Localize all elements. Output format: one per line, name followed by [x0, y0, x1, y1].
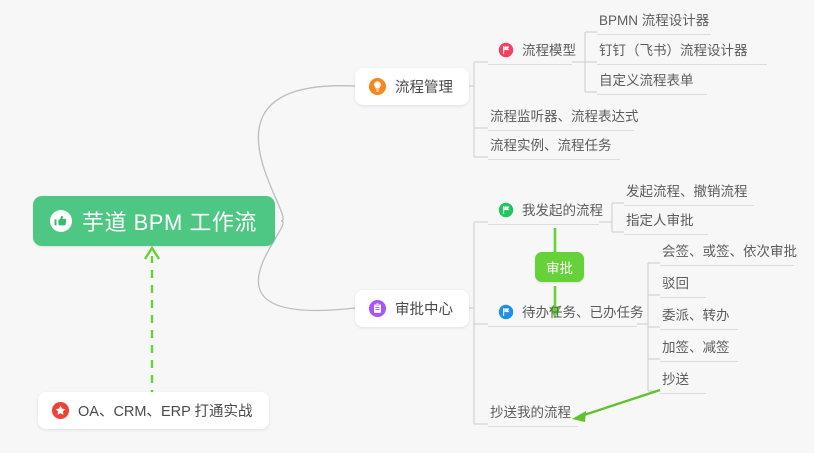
- node-cc[interactable]: 抄送: [660, 364, 706, 394]
- callout-integration[interactable]: OA、CRM、ERP 打通实战: [38, 392, 269, 429]
- node-my-initiated-label: 我发起的流程: [522, 204, 603, 223]
- node-assignee-approval[interactable]: 指定人审批: [624, 205, 708, 235]
- node-delegate-transfer[interactable]: 委派、转办: [660, 300, 738, 330]
- node-start-cancel[interactable]: 发起流程、撤销流程: [624, 176, 754, 206]
- node-countersign-label: 会签、或签、依次审批: [662, 245, 797, 264]
- node-cc-to-me[interactable]: 抄送我的流程: [488, 397, 578, 427]
- node-add-remove-sign[interactable]: 加签、减签: [660, 332, 738, 362]
- root-label: 芋道 BPM 工作流: [82, 205, 257, 237]
- node-add-remove-sign-label: 加签、减签: [662, 341, 730, 360]
- node-bpmn-designer[interactable]: BPMN 流程设计器: [597, 5, 711, 35]
- branch-approval-center[interactable]: 审批中心: [355, 290, 469, 327]
- node-reject-label: 驳回: [662, 277, 689, 296]
- flag-icon: [498, 202, 514, 218]
- node-custom-process-form[interactable]: 自定义流程表单: [597, 65, 707, 95]
- node-start-cancel-label: 发起流程、撤销流程: [626, 185, 748, 204]
- lightbulb-icon: [368, 77, 387, 96]
- branch-process-management[interactable]: 流程管理: [355, 68, 469, 105]
- node-bpmn-designer-label: BPMN 流程设计器: [599, 14, 709, 33]
- node-process-listener-label: 流程监听器、流程表达式: [490, 110, 639, 129]
- callout-integration-label: OA、CRM、ERP 打通实战: [78, 400, 253, 421]
- node-process-model-label: 流程模型: [522, 44, 576, 63]
- node-cc-label: 抄送: [662, 373, 689, 392]
- node-assignee-approval-label: 指定人审批: [626, 214, 694, 233]
- node-todo-done-tasks-label: 待办任务、已办任务: [522, 306, 644, 325]
- root-node[interactable]: 芋道 BPM 工作流: [33, 196, 275, 246]
- flag-icon: [498, 42, 514, 58]
- node-cc-to-me-label: 抄送我的流程: [490, 406, 571, 425]
- clipboard-icon: [368, 299, 387, 318]
- badge-approval-label: 审批: [546, 257, 573, 277]
- node-delegate-transfer-label: 委派、转办: [662, 309, 730, 328]
- badge-approval[interactable]: 审批: [535, 252, 584, 282]
- node-custom-process-form-label: 自定义流程表单: [599, 74, 694, 93]
- arrow-callout-to-root-head: [145, 248, 159, 259]
- star-icon: [51, 401, 70, 420]
- node-process-instance[interactable]: 流程实例、流程任务: [488, 130, 620, 160]
- thumbs-up-icon: [49, 209, 73, 233]
- node-todo-done-tasks[interactable]: 待办任务、已办任务: [488, 297, 637, 327]
- arrow-cc-to-ccme: [578, 390, 660, 417]
- branch-process-management-label: 流程管理: [395, 76, 453, 97]
- node-my-initiated[interactable]: 我发起的流程: [488, 195, 599, 225]
- branch-approval-center-label: 审批中心: [395, 298, 453, 319]
- node-dingtalk-feishu-designer[interactable]: 钉钉（飞书）流程设计器: [597, 35, 767, 65]
- node-reject[interactable]: 驳回: [660, 268, 706, 298]
- node-dingtalk-feishu-designer-label: 钉钉（飞书）流程设计器: [599, 44, 748, 63]
- node-process-listener[interactable]: 流程监听器、流程表达式: [488, 101, 634, 131]
- flag-icon: [498, 304, 514, 320]
- node-process-model[interactable]: 流程模型: [488, 35, 572, 65]
- node-countersign[interactable]: 会签、或签、依次审批: [660, 236, 794, 266]
- mindmap-canvas: 芋道 BPM 工作流 流程管理 流程模型 BPMN 流程设计器 钉钉（飞书）流程…: [0, 0, 814, 453]
- node-process-instance-label: 流程实例、流程任务: [490, 139, 612, 158]
